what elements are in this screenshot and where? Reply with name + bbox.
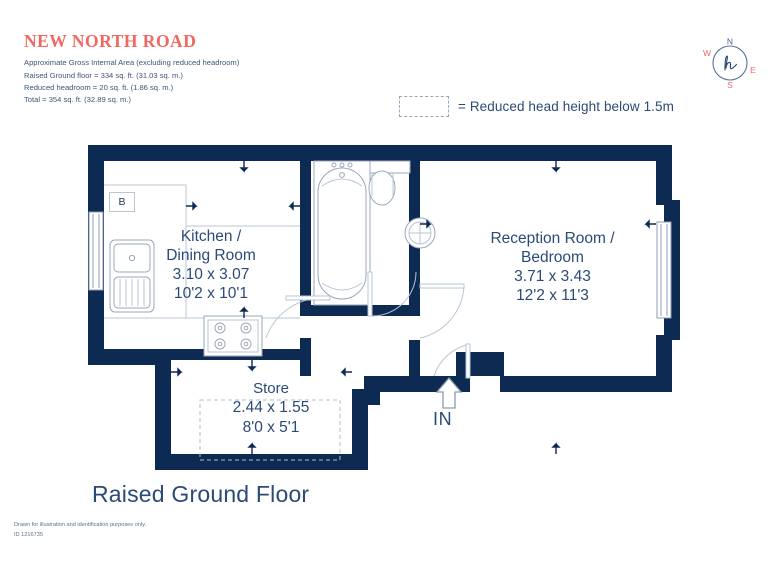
wall-hall-reception-lower: [409, 340, 420, 376]
window-bay-reception: [657, 222, 671, 318]
room-dim-reception-imperial: 12'2 x 11'3: [450, 286, 655, 305]
door-swings: [266, 272, 470, 378]
room-name-store: Store: [196, 380, 346, 398]
wall-kitchen-lower: [300, 338, 311, 376]
boiler-marker: B: [109, 192, 135, 212]
room-label-store: Store 2.44 x 1.55 8'0 x 5'1: [196, 380, 346, 437]
wall-kitchen-bath: [300, 161, 311, 313]
footer-block: Drawn for illustration and identificatio…: [14, 521, 146, 541]
floor-title: Raised Ground Floor: [92, 481, 309, 508]
footer-disclaimer: Drawn for illustration and identificatio…: [14, 521, 146, 531]
wash-basin: [405, 218, 435, 248]
room-dim-kitchen-metric: 3.10 x 3.07: [131, 265, 291, 284]
room-dim-store-metric: 2.44 x 1.55: [196, 398, 346, 417]
bathtub: [314, 161, 370, 305]
room-name-kitchen-l1: Kitchen /: [131, 227, 291, 246]
room-name-kitchen-l2: Dining Room: [131, 246, 291, 265]
room-dim-store-imperial: 8'0 x 5'1: [196, 418, 346, 437]
entrance-label: IN: [433, 409, 452, 430]
hob-four-burner: [204, 316, 262, 356]
footer-id: ID 1216735: [14, 531, 146, 541]
wall-entrance-return: [470, 352, 504, 376]
floorplan-page: NEW NORTH ROAD Approximate Gross Interna…: [0, 0, 768, 576]
room-dim-kitchen-imperial: 10'2 x 10'1: [131, 284, 291, 303]
room-dim-reception-metric: 3.71 x 3.43: [450, 267, 655, 286]
room-name-reception-l2: Bedroom: [450, 248, 655, 267]
toilet: [369, 161, 410, 205]
room-label-kitchen: Kitchen / Dining Room 3.10 x 3.07 10'2 x…: [131, 227, 291, 303]
room-label-reception: Reception Room / Bedroom 3.71 x 3.43 12'…: [450, 229, 655, 305]
window-left-kitchen: [89, 212, 103, 290]
room-name-reception-l1: Reception Room /: [450, 229, 655, 248]
